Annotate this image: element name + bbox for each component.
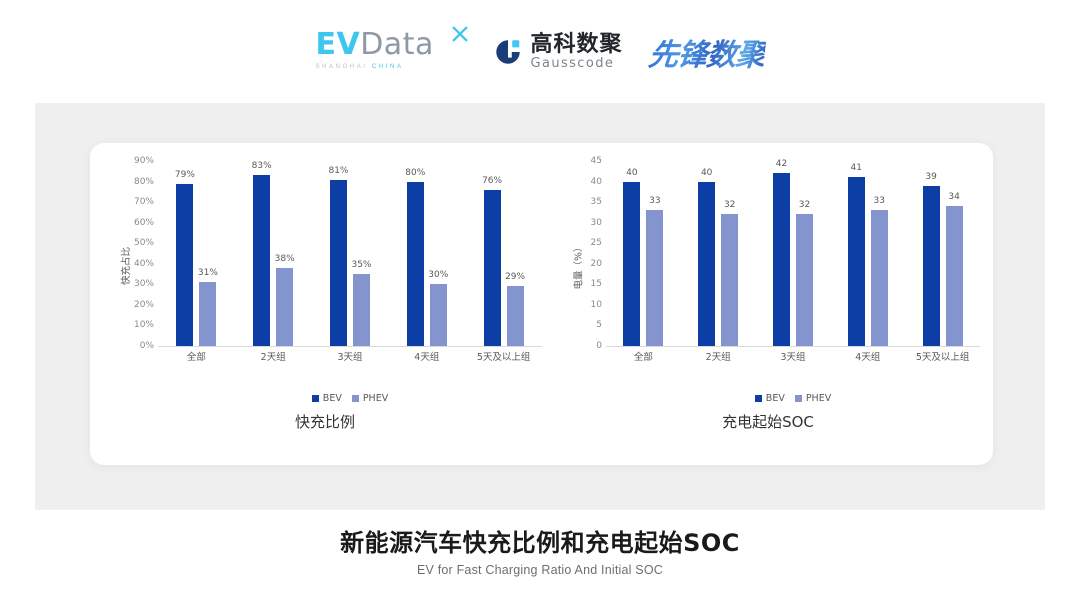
bar-phev[interactable]: 33	[646, 210, 663, 346]
bar-bev[interactable]: 39	[923, 186, 940, 346]
y-axis-tick: 20%	[134, 300, 154, 310]
bar-phev[interactable]: 38%	[276, 268, 293, 346]
bar-bev[interactable]: 76%	[484, 190, 501, 346]
x-axis-tick: 3天组	[337, 349, 362, 363]
bar-value-label: 32	[724, 200, 735, 210]
gausscode-english-name: Gausscode	[530, 56, 622, 71]
bar-value-label: 33	[649, 196, 660, 206]
legend-left: BEV PHEV	[158, 393, 542, 404]
bar-bev[interactable]: 79%	[176, 184, 193, 346]
bar-value-label: 39	[925, 172, 936, 182]
y-axis-tick: 0	[596, 341, 602, 351]
legend-item-phev-left: PHEV	[352, 393, 388, 404]
plot-wrap-left: 快充占比 0%10%20%30%40%50%60%70%80%90% 79%31…	[100, 161, 550, 371]
gausscode-chinese-name: 高科数聚	[530, 34, 622, 56]
bar-phev[interactable]: 32	[721, 214, 738, 346]
y-axis-tick: 45	[591, 156, 602, 166]
plot-area-left: 79%31%83%38%81%35%80%30%76%29%	[158, 161, 542, 347]
bar-group: 4032	[681, 161, 756, 346]
bar-bev[interactable]: 81%	[330, 180, 347, 347]
y-axis-tick: 40%	[134, 259, 154, 269]
bar-value-label: 38%	[275, 254, 295, 264]
bar-bev[interactable]: 41	[848, 177, 865, 346]
y-axis-tick: 60%	[134, 218, 154, 228]
legend-swatch-phev-icon	[352, 395, 359, 402]
x-axis-tick: 5天及以上组	[916, 349, 970, 363]
x-axis-tick: 全部	[187, 349, 206, 363]
y-axis-tick: 10	[591, 300, 602, 310]
logo-bar: EVData SHANGHAI CHINA 高科数聚 Gausscode 先锋数…	[0, 22, 1080, 82]
bar-value-label: 81%	[328, 166, 348, 176]
legend-label-bev-left: BEV	[323, 393, 342, 404]
bar-phev[interactable]: 30%	[430, 284, 447, 346]
x-axis-tick: 4天组	[414, 349, 439, 363]
legend-swatch-phev-icon	[795, 395, 802, 402]
xianfeng-logo: 先锋数聚	[646, 30, 767, 74]
x-cross-icon	[451, 25, 469, 43]
legend-label-bev-right: BEV	[766, 393, 785, 404]
bar-group: 3934	[905, 161, 980, 346]
evdata-wordmark: EVData	[315, 28, 467, 62]
bar-value-label: 79%	[175, 170, 195, 180]
legend-swatch-bev-icon	[755, 395, 762, 402]
chart-title-right: 充电起始SOC	[548, 411, 988, 432]
bar-group: 79%31%	[158, 161, 235, 346]
x-axis-tick: 2天组	[706, 349, 731, 363]
bar-phev[interactable]: 29%	[507, 286, 524, 346]
bar-value-label: 34	[948, 192, 959, 202]
footer-title-en: EV for Fast Charging Ratio And Initial S…	[0, 563, 1080, 577]
y-axis-ticks-left: 0%10%20%30%40%50%60%70%80%90%	[118, 161, 154, 346]
legend-item-phev-right: PHEV	[795, 393, 831, 404]
chart-fast-charging-ratio: 快充占比 0%10%20%30%40%50%60%70%80%90% 79%31…	[100, 143, 550, 465]
y-axis-tick: 50%	[134, 238, 154, 248]
bar-value-label: 42	[776, 159, 787, 169]
y-axis-tick: 25	[591, 238, 602, 248]
bar-value-label: 29%	[505, 272, 525, 282]
bar-group: 76%29%	[465, 161, 542, 346]
bar-value-label: 80%	[405, 168, 425, 178]
bar-bev[interactable]: 40	[623, 182, 640, 346]
footer: 新能源汽车快充比例和充电起始SOC EV for Fast Charging R…	[0, 528, 1080, 577]
bar-group: 4033	[606, 161, 681, 346]
y-axis-tick: 90%	[134, 156, 154, 166]
evdata-data-text: Data	[360, 27, 434, 62]
y-axis-tick: 5	[596, 320, 602, 330]
evdata-tagline-country: CHINA	[372, 64, 404, 70]
bar-value-label: 40	[701, 168, 712, 178]
legend-swatch-bev-icon	[312, 395, 319, 402]
bar-group: 83%38%	[235, 161, 312, 346]
y-axis-tick: 20	[591, 259, 602, 269]
y-axis-tick: 35	[591, 197, 602, 207]
bar-bev[interactable]: 80%	[407, 182, 424, 346]
x-axis-ticks-left: 全部2天组3天组4天组5天及以上组	[158, 349, 542, 365]
bar-phev[interactable]: 31%	[199, 282, 216, 346]
bar-phev[interactable]: 33	[871, 210, 888, 346]
bar-phev[interactable]: 34	[946, 206, 963, 346]
chart-title-left: 快充比例	[100, 411, 550, 432]
y-axis-tick: 10%	[134, 320, 154, 330]
gausscode-circle-icon	[493, 37, 523, 67]
y-axis-tick: 0%	[140, 341, 154, 351]
bar-group: 81%35%	[312, 161, 389, 346]
bar-group: 80%30%	[388, 161, 465, 346]
evdata-tagline: SHANGHAI CHINA	[315, 64, 467, 70]
legend-label-phev-left: PHEV	[363, 393, 388, 404]
x-axis-tick: 全部	[634, 349, 653, 363]
bar-value-label: 33	[874, 196, 885, 206]
legend-item-bev-right: BEV	[755, 393, 785, 404]
y-axis-tick: 15	[591, 279, 602, 289]
bar-phev[interactable]: 32	[796, 214, 813, 346]
plot-wrap-right: 电量（%） 051015202530354045 403340324232413…	[548, 161, 988, 371]
bar-value-label: 32	[799, 200, 810, 210]
gausscode-logo: 高科数聚 Gausscode	[493, 34, 622, 71]
evdata-logo: EVData SHANGHAI CHINA	[315, 28, 467, 76]
chart-initial-soc: 电量（%） 051015202530354045 403340324232413…	[548, 143, 988, 465]
legend-label-phev-right: PHEV	[806, 393, 831, 404]
evdata-tagline-city: SHANGHAI	[315, 64, 371, 70]
x-axis-tick: 5天及以上组	[477, 349, 531, 363]
bar-group: 4133	[830, 161, 905, 346]
y-axis-tick: 40	[591, 177, 602, 187]
charts-card: 快充占比 0%10%20%30%40%50%60%70%80%90% 79%31…	[90, 143, 993, 465]
y-axis-tick: 80%	[134, 177, 154, 187]
bar-group: 4232	[756, 161, 831, 346]
y-axis-tick: 30%	[134, 279, 154, 289]
x-axis-tick: 2天组	[261, 349, 286, 363]
plot-area-right: 40334032423241333934	[606, 161, 980, 347]
footer-title-cn: 新能源汽车快充比例和充电起始SOC	[0, 528, 1080, 558]
legend-right: BEV PHEV	[606, 393, 980, 404]
bar-phev[interactable]: 35%	[353, 274, 370, 346]
bar-value-label: 40	[626, 168, 637, 178]
x-axis-tick: 3天组	[780, 349, 805, 363]
x-axis-ticks-right: 全部2天组3天组4天组5天及以上组	[606, 349, 980, 365]
bar-bev[interactable]: 42	[773, 173, 790, 346]
y-axis-tick: 30	[591, 218, 602, 228]
x-axis-tick: 4天组	[855, 349, 880, 363]
bar-value-label: 76%	[482, 176, 502, 186]
bar-value-label: 31%	[198, 268, 218, 278]
bar-value-label: 41	[851, 163, 862, 173]
bar-value-label: 83%	[252, 161, 272, 171]
bar-value-label: 35%	[351, 260, 371, 270]
y-axis-tick: 70%	[134, 197, 154, 207]
bar-bev[interactable]: 83%	[253, 175, 270, 346]
bar-value-label: 30%	[428, 270, 448, 280]
bar-bev[interactable]: 40	[698, 182, 715, 346]
evdata-ev-text: EV	[315, 27, 360, 62]
y-axis-ticks-right: 051015202530354045	[566, 161, 602, 346]
legend-item-bev-left: BEV	[312, 393, 342, 404]
